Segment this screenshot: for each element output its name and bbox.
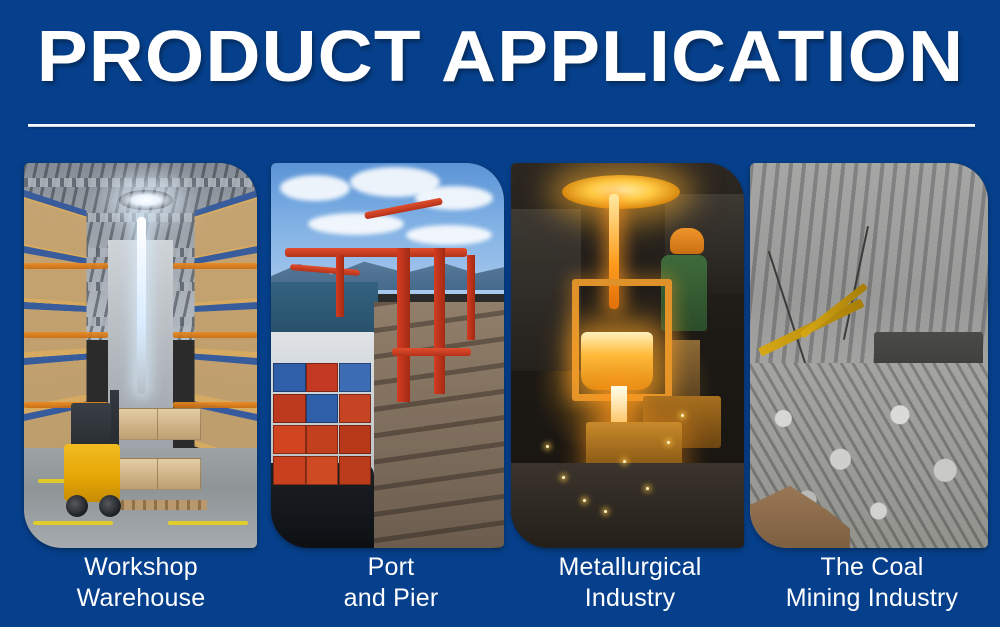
coal-mine-photo <box>750 163 988 548</box>
port-photo <box>271 163 504 548</box>
caption-line-1: The Coal <box>744 552 1000 583</box>
warehouse-photo <box>24 163 257 548</box>
foundry-photo <box>511 163 744 548</box>
application-panel-coal-mining-industry[interactable] <box>750 163 988 548</box>
title-divider <box>28 124 975 127</box>
caption-line-2: Industry <box>505 583 755 614</box>
caption-line-1: Port <box>266 552 516 583</box>
caption-line-1: Workshop <box>16 552 266 583</box>
application-panel-workshop-warehouse[interactable] <box>24 163 257 548</box>
panel-captions: Workshop Warehouse Port and Pier Metallu… <box>0 552 1000 627</box>
caption-line-1: Metallurgical <box>505 552 755 583</box>
caption-line-2: and Pier <box>266 583 516 614</box>
application-panel-metallurgical-industry[interactable] <box>511 163 744 548</box>
caption-coal-mining-industry: The Coal Mining Industry <box>744 552 1000 614</box>
caption-line-2: Warehouse <box>16 583 266 614</box>
caption-workshop-warehouse: Workshop Warehouse <box>16 552 266 614</box>
caption-metallurgical-industry: Metallurgical Industry <box>505 552 755 614</box>
caption-line-2: Mining Industry <box>744 583 1000 614</box>
application-panel-port-and-pier[interactable] <box>271 163 504 548</box>
banner-header: PRODUCT APPLICATION <box>0 14 1000 100</box>
page-title: PRODUCT APPLICATION <box>36 14 963 100</box>
caption-port-and-pier: Port and Pier <box>266 552 516 614</box>
application-panel-strip <box>0 163 1000 555</box>
product-application-banner: PRODUCT APPLICATION <box>0 0 1000 627</box>
